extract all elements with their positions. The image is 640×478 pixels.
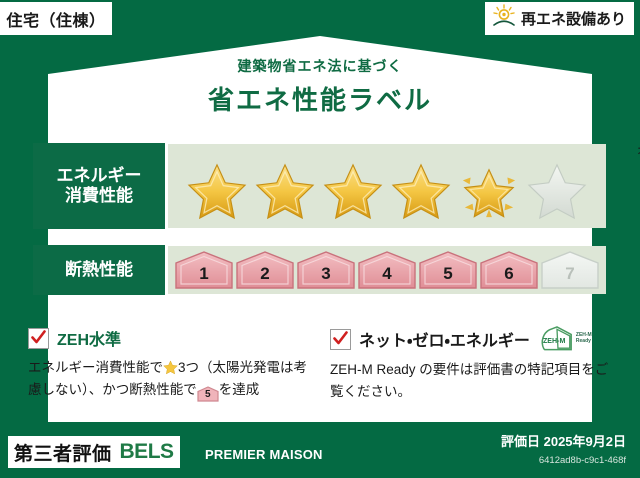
housing-type-text: 住宅（住棟） (6, 7, 105, 31)
inline-house-grade-icon: 5 (197, 386, 219, 402)
energy-consumption-row: エネルギー 消費性能 太陽光発電(自家消費)分 (34, 144, 606, 228)
inline-star-icon (163, 360, 178, 375)
housing-type-tag: 住宅（住棟） (0, 2, 112, 35)
insulation-grade-5: 5 (419, 250, 477, 290)
net-zero-energy-body: ZEH-M Ready の要件は評価書の特記項目をご覧ください。 (330, 359, 612, 403)
star-filled-4 (390, 161, 452, 221)
insulation-grade-4: 4 (358, 250, 416, 290)
renewable-equipment-badge: 再エネ設備あり (485, 2, 634, 35)
title-subtitle: 建築物省エネ法に基づく (0, 56, 640, 76)
solar-self-consumption-note: 太陽光発電(自家消費)分 (626, 143, 640, 156)
insulation-grade-scale: 1 2 3 (168, 246, 606, 294)
document-id: 6412ad8b-c9c1-468f (539, 455, 626, 466)
net-zero-energy-statement: ネット・ゼロ・エネルギー ZEH-M ZEH-M Ready ZEH-M Rea… (330, 326, 612, 403)
insulation-label-text: 断熱性能 (65, 260, 133, 280)
renewable-badge-text: 再エネ設備あり (521, 8, 626, 29)
zeh-m-logo: ZEH-M ZEH-M Ready (540, 326, 592, 352)
insulation-grade-1: 1 (175, 250, 233, 290)
insulation-grade-6: 6 (480, 250, 538, 290)
insulation-label: 断熱性能 (34, 246, 164, 294)
insulation-grade-7: 7 (541, 250, 599, 290)
insulation-grade-3-number: 3 (321, 264, 330, 290)
bels-logo-text: BELS (120, 440, 174, 464)
insulation-grade-7-number: 7 (565, 264, 574, 290)
zeh-standard-statement: ZEH水準 エネルギー消費性能で3つ（太陽光発電は考慮しない）、かつ断熱性能で5… (28, 326, 318, 402)
inline-house-grade-number: 5 (197, 386, 219, 404)
insulation-grade-2: 2 (236, 250, 294, 290)
solar-sun-icon (491, 4, 517, 33)
insulation-grade-1-number: 1 (199, 264, 208, 290)
zeh-standard-body: エネルギー消費性能で3つ（太陽光発電は考慮しない）、かつ断熱性能で5を達成 (28, 357, 318, 402)
insulation-grade-group: 1 2 3 (168, 246, 606, 294)
star-rating-group (168, 144, 606, 228)
insulation-grade-6-number: 6 (504, 264, 513, 290)
zeh-standard-title: ZEH水準 (57, 326, 121, 350)
energy-performance-label: 住宅（住棟） 再エネ設備あり 建築物省エネ法に基づく 省エネ性能ラベル (0, 0, 640, 478)
evaluation-date: 評価日 2025年9月2日 (501, 431, 626, 450)
insulation-grade-3: 3 (297, 250, 355, 290)
net-zero-energy-checkbox[interactable] (330, 329, 351, 350)
energy-consumption-label: エネルギー 消費性能 (34, 144, 164, 228)
star-filled-1 (186, 161, 248, 221)
third-party-evaluation-text: 第三者評価 (14, 439, 112, 466)
zeh-m-ready-caption: ZEH-M Ready (576, 333, 592, 345)
insulation-grade-4-number: 4 (382, 264, 391, 290)
energy-label-line2: 消費性能 (65, 186, 133, 206)
bels-evaluation-badge: 第三者評価 BELS (8, 436, 180, 468)
energy-label-line1: エネルギー (57, 166, 142, 186)
insulation-grade-5-number: 5 (443, 264, 452, 290)
zeh-body-post: を達成 (219, 382, 260, 397)
insulation-grade-2-number: 2 (260, 264, 269, 290)
zeh-standard-checkbox[interactable] (28, 328, 49, 349)
svg-text:ZEH-M: ZEH-M (543, 337, 566, 345)
owner-name: PREMIER MAISON (205, 447, 323, 462)
net-zero-energy-title: ネット・ゼロ・エネルギー (359, 327, 530, 351)
zeh-body-pre: エネルギー消費性能で (28, 360, 163, 375)
star-filled-2 (254, 161, 316, 221)
label-title-block: 建築物省エネ法に基づく 省エネ性能ラベル (0, 56, 640, 117)
evaluation-date-value: 2025年9月2日 (544, 434, 626, 449)
star-filled-3 (322, 161, 384, 221)
star-empty-6 (526, 161, 588, 221)
energy-star-scale: 太陽光発電(自家消費)分 (168, 144, 606, 228)
insulation-performance-row: 断熱性能 1 2 (34, 246, 606, 294)
zeh-m-ready-line2: Ready (576, 338, 591, 344)
evaluation-date-label: 評価日 (501, 434, 540, 449)
zeh-standard-heading: ZEH水準 (28, 326, 318, 350)
title-main: 省エネ性能ラベル (0, 80, 640, 117)
star-filled-5-solar (458, 161, 520, 221)
zeh-m-house-icon: ZEH-M (540, 326, 574, 352)
net-zero-energy-heading: ネット・ゼロ・エネルギー ZEH-M ZEH-M Ready (330, 326, 612, 352)
